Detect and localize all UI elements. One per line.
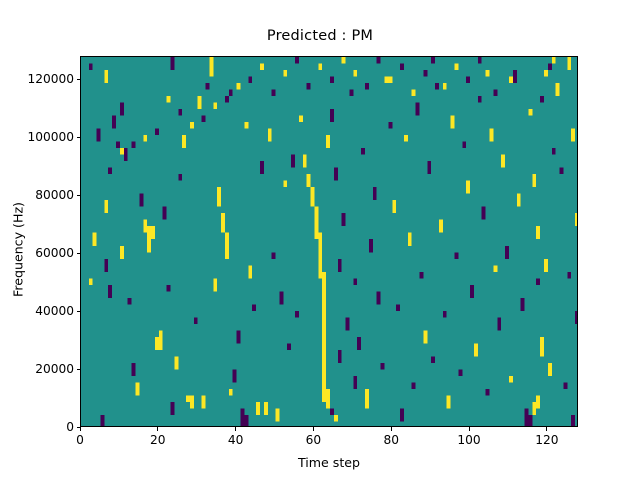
- y-tick-label: 40000: [0, 304, 74, 318]
- x-tick-mark: [157, 427, 158, 431]
- y-tick-mark: [77, 137, 81, 138]
- y-tick-label: 80000: [0, 188, 74, 202]
- y-tick-label: 100000: [0, 130, 74, 144]
- y-tick-label: 20000: [0, 362, 74, 376]
- x-tick-mark: [546, 427, 547, 431]
- y-tick-mark: [77, 311, 81, 312]
- x-axis-label: Time step: [80, 455, 578, 470]
- page-title: Predicted : PM: [0, 28, 640, 44]
- y-tick-mark: [77, 79, 81, 80]
- heatmap-plot-area[interactable]: [80, 56, 578, 427]
- y-tick-label: 120000: [0, 72, 74, 86]
- y-tick-mark: [77, 253, 81, 254]
- matplotlib-figure: Predicted : PM Frequency (Hz) Time step …: [0, 0, 640, 480]
- x-tick-label: 120: [487, 433, 607, 447]
- x-tick-mark: [80, 427, 81, 431]
- y-tick-mark: [77, 369, 81, 370]
- y-tick-label: 60000: [0, 246, 74, 260]
- x-tick-mark: [313, 427, 314, 431]
- x-tick-mark: [469, 427, 470, 431]
- x-tick-mark: [235, 427, 236, 431]
- y-tick-label: 0: [0, 420, 74, 434]
- x-tick-mark: [391, 427, 392, 431]
- y-tick-mark: [77, 195, 81, 196]
- heatmap-canvas: [81, 57, 578, 427]
